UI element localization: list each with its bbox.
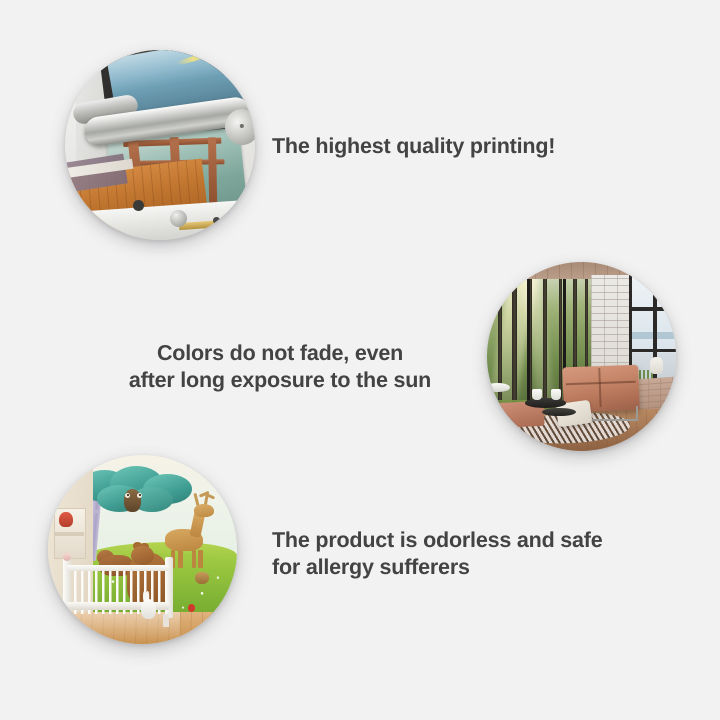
nursery-illustration — [48, 455, 237, 644]
printing-machine-illustration — [65, 50, 255, 240]
rabbit-figure — [141, 599, 156, 620]
feature-text-odorless-safe: The product is odorless and safe for all… — [272, 527, 603, 581]
feature-text-printing-quality: The highest quality printing! — [272, 133, 555, 160]
printing-machine-photo — [65, 50, 255, 240]
living-room-illustration — [487, 262, 676, 451]
owl-figure — [124, 489, 141, 512]
promo-graphic: The highest quality printing! — [0, 0, 720, 720]
nursery-mural-photo — [48, 455, 237, 644]
feature-text-color-fastness: Colors do not fade, even after long expo… — [110, 340, 450, 394]
living-room-mural-photo — [487, 262, 676, 451]
